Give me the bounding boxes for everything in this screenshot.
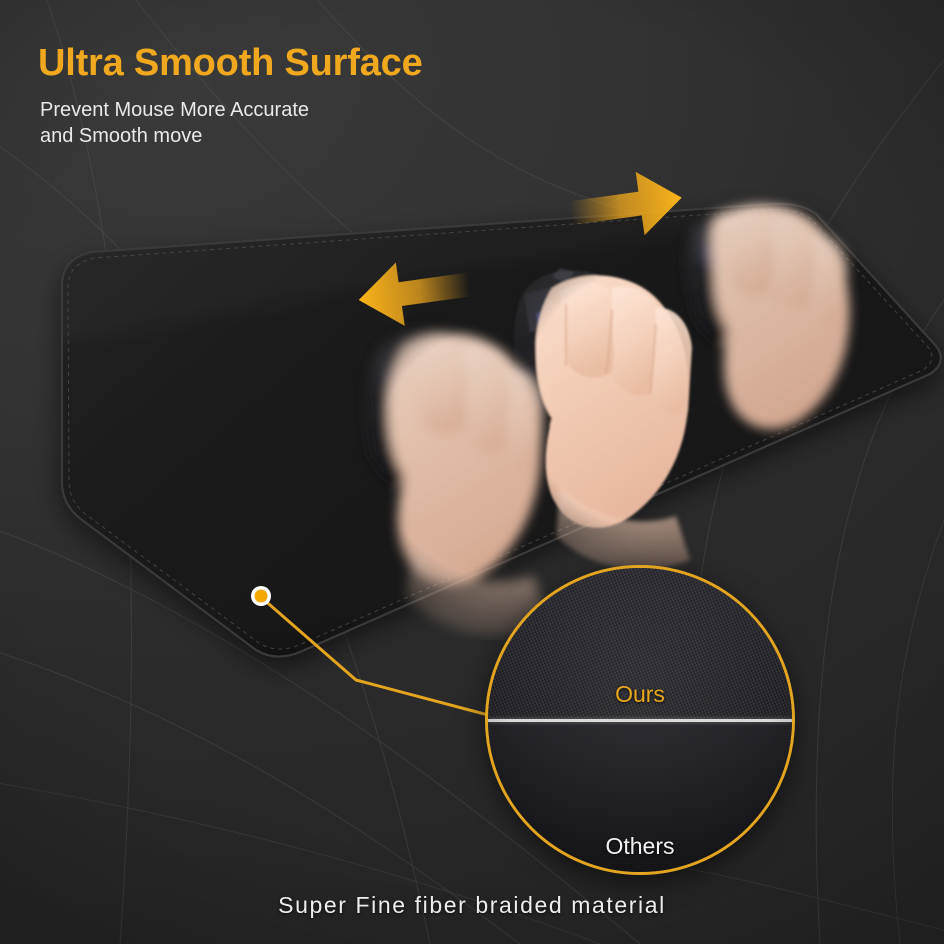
product-marketing-banner: Ultra Smooth Surface Prevent Mouse More … xyxy=(0,0,944,944)
callout-dot xyxy=(255,590,268,603)
material-zoom-circle: Ours Others xyxy=(485,565,795,875)
callout-line xyxy=(262,598,492,716)
callout-leader xyxy=(0,0,944,944)
zoom-circle-shading xyxy=(488,568,792,872)
label-ours: Ours xyxy=(488,681,792,708)
label-others: Others xyxy=(488,833,792,860)
material-caption: Super Fine fiber braided material xyxy=(0,892,944,919)
